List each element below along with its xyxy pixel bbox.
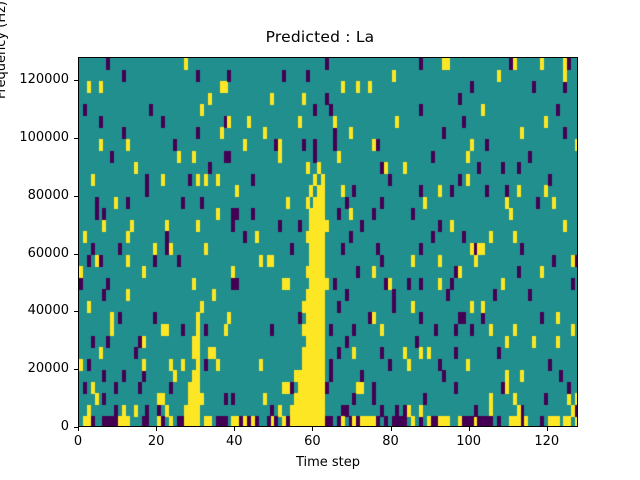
x-tick-label: 20	[126, 434, 186, 449]
y-tick-label: 80000	[0, 188, 69, 203]
matplotlib-figure: Predicted : La 0200004000060000800001000…	[0, 0, 640, 480]
y-tick-label: 100000	[0, 130, 69, 145]
y-axis-label: Frequency (Hz)	[0, 0, 9, 150]
x-tick-mark	[156, 427, 157, 431]
y-tick-label: 20000	[0, 361, 69, 376]
y-axis-label-wrap: Frequency (Hz)	[0, 0, 9, 150]
x-tick-label: 80	[361, 434, 421, 449]
x-tick-mark	[469, 427, 470, 431]
y-tick-mark	[74, 80, 78, 81]
y-tick-mark	[74, 254, 78, 255]
x-tick-mark	[391, 427, 392, 431]
y-tick-label: 60000	[0, 246, 69, 261]
y-tick-mark	[74, 196, 78, 197]
chart-title: Predicted : La	[0, 28, 640, 46]
x-tick-label: 120	[517, 434, 577, 449]
x-tick-mark	[234, 427, 235, 431]
x-axis-label: Time step	[78, 455, 578, 470]
y-tick-mark	[74, 138, 78, 139]
y-tick-label: 120000	[0, 72, 69, 87]
y-tick-mark	[74, 369, 78, 370]
y-tick-label: 0	[0, 419, 69, 434]
x-tick-mark	[78, 427, 79, 431]
heatmap-axes[interactable]	[78, 57, 578, 427]
y-tick-label: 40000	[0, 303, 69, 318]
spectrogram-image	[79, 58, 578, 427]
x-tick-mark	[312, 427, 313, 431]
x-tick-mark	[547, 427, 548, 431]
y-tick-mark	[74, 311, 78, 312]
x-tick-label: 0	[48, 434, 108, 449]
x-tick-label: 100	[439, 434, 499, 449]
x-tick-label: 60	[282, 434, 342, 449]
x-tick-label: 40	[204, 434, 264, 449]
